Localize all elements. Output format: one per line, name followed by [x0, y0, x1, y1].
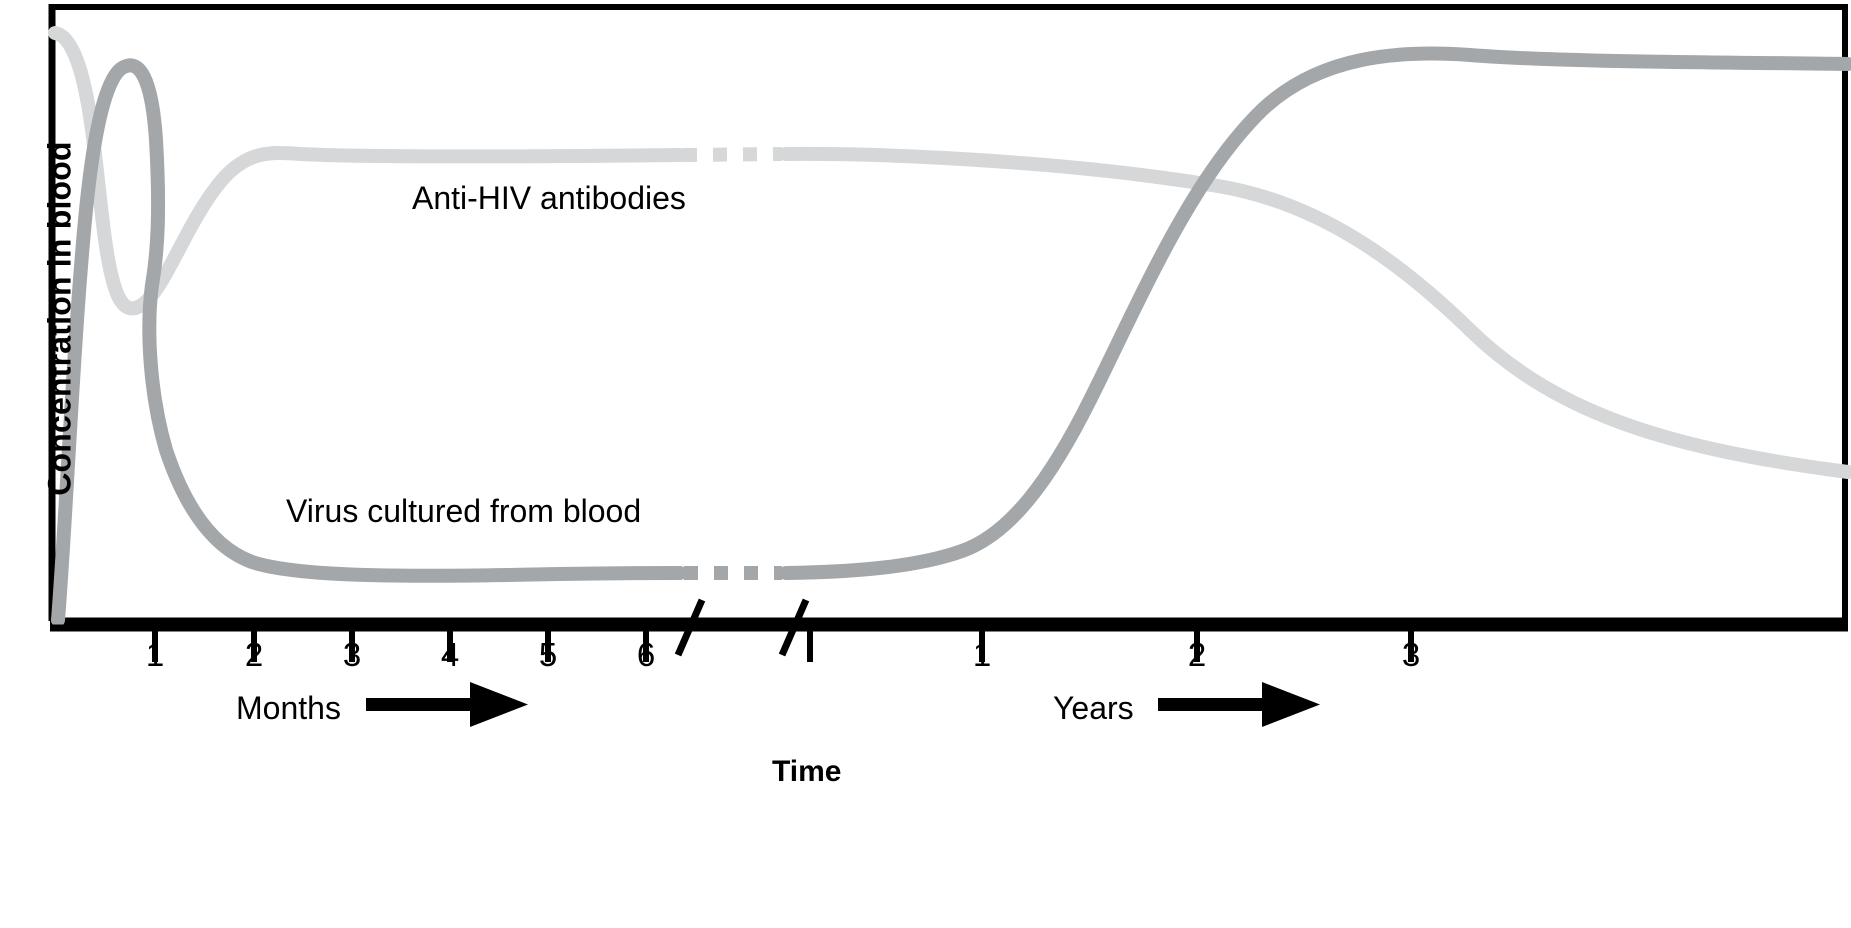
tick-label-month-2: 2: [224, 636, 284, 674]
chart-svg: [0, 0, 1851, 928]
tick-label-month-3: 3: [322, 636, 382, 674]
years-arrow-icon: [1158, 682, 1320, 727]
tick-label-month-5: 5: [518, 636, 578, 674]
x-axis-segment-label-years: Years: [1053, 690, 1134, 727]
series-label-virus: Virus cultured from blood: [286, 493, 641, 530]
virus-curve-right: [786, 54, 1848, 573]
y-axis-label: Concentration in blood: [42, 59, 79, 579]
series-anti-hiv-antibodies: [55, 33, 1848, 472]
tick-label-month-6: 6: [616, 636, 676, 674]
hiv-timecourse-chart: Concentration in blood Anti-HIV antibodi…: [0, 0, 1851, 928]
tick-label-month-1: 1: [125, 636, 185, 674]
antibodies-curve-break-dash: [683, 154, 782, 155]
x-axis-label: Time: [772, 755, 841, 789]
series-virus-cultured-from-blood: [58, 54, 1848, 620]
series-label-antibodies: Anti-HIV antibodies: [412, 180, 686, 217]
tick-label-year-2: 2: [1167, 636, 1227, 674]
virus-curve-left: [58, 65, 680, 620]
y-axis-label-wrap: Concentration in blood: [0, 0, 46, 620]
antibodies-curve-right: [786, 154, 1848, 472]
x-axis-segment-label-months: Months: [236, 690, 341, 727]
tick-label-month-4: 4: [420, 636, 480, 674]
tick-label-year-1: 1: [952, 636, 1012, 674]
x-axis: [50, 600, 1848, 662]
months-arrow-icon: [366, 682, 528, 727]
tick-label-year-3: 3: [1381, 636, 1441, 674]
